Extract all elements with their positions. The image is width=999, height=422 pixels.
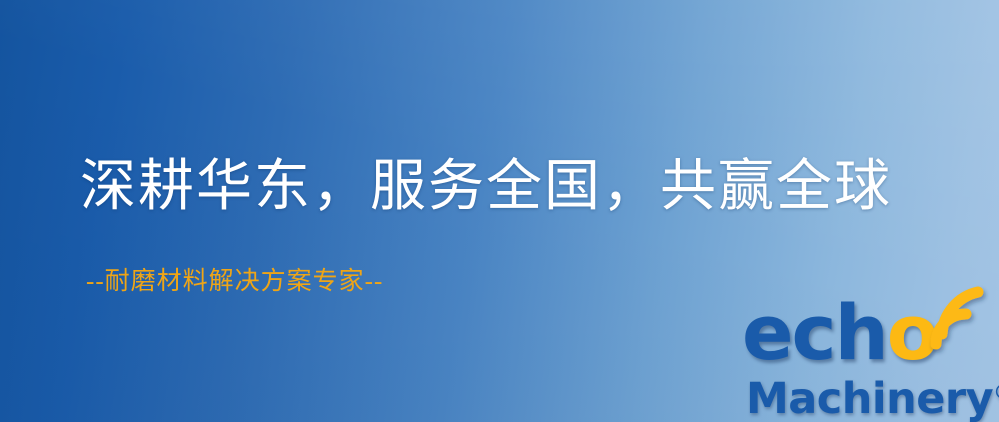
echo-machinery-logo: echo Machinery®: [742, 294, 994, 416]
signal-arcs-icon: [928, 292, 990, 350]
registered-trademark-symbol: ®: [993, 380, 999, 404]
logo-wordmark-ech: ech: [742, 288, 887, 377]
logo-wordmark: echo: [742, 294, 937, 372]
logo-tagline: Machinery®: [746, 368, 999, 422]
banner-headline: 深耕华东，服务全国，共赢全球: [80, 152, 892, 222]
logo-tagline-text: Machinery: [746, 374, 993, 422]
promotional-banner: 深耕华东，服务全国，共赢全球 --耐磨材料解决方案专家-- echo Machi…: [0, 0, 999, 422]
banner-subtitle: --耐磨材料解决方案专家--: [86, 266, 383, 298]
